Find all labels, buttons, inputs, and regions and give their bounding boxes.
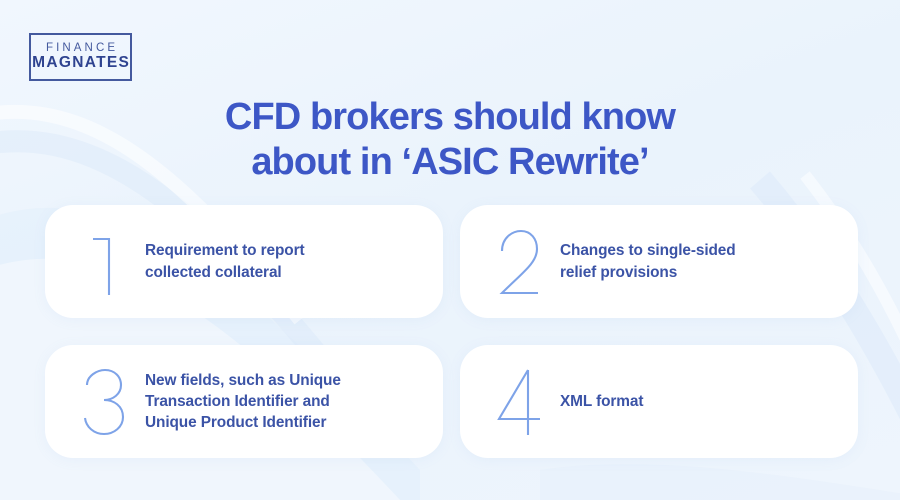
point-card-3: New fields, such as Unique Transaction I… xyxy=(45,345,443,458)
point-card-4: XML format xyxy=(460,345,858,458)
point-card-3-line-1: New fields, such as Unique xyxy=(145,370,341,391)
point-card-1-text: Requirement to report collected collater… xyxy=(145,240,305,283)
point-card-4-line-1: XML format xyxy=(560,391,643,412)
infographic-canvas: FINANCE MAGNATES CFD brokers should know… xyxy=(0,0,900,500)
point-card-3-text: New fields, such as Unique Transaction I… xyxy=(145,370,341,434)
point-card-2-text: Changes to single-sided relief provision… xyxy=(560,240,736,283)
point-card-2-line-2: relief provisions xyxy=(560,262,736,283)
numeral-2-icon xyxy=(490,226,548,298)
point-card-3-line-2: Transaction Identifier and xyxy=(145,391,341,412)
points-grid: Requirement to report collected collater… xyxy=(45,205,858,458)
logo-text-finance: FINANCE xyxy=(43,42,118,54)
numeral-3-icon xyxy=(75,366,133,438)
point-card-2: Changes to single-sided relief provision… xyxy=(460,205,858,318)
point-card-1-line-1: Requirement to report xyxy=(145,240,305,261)
logo-text-magnates: MAGNATES xyxy=(31,54,130,72)
point-card-3-line-3: Unique Product Identifier xyxy=(145,412,341,433)
numeral-1-icon xyxy=(75,226,133,298)
page-title-line-1: CFD brokers should know xyxy=(0,95,900,139)
finance-magnates-logo: FINANCE MAGNATES xyxy=(29,33,132,81)
point-card-4-text: XML format xyxy=(560,391,643,412)
page-title: CFD brokers should know about in ‘ASIC R… xyxy=(0,95,900,183)
numeral-4-icon xyxy=(490,366,548,438)
point-card-2-line-1: Changes to single-sided xyxy=(560,240,736,261)
point-card-1-line-2: collected collateral xyxy=(145,262,305,283)
point-card-1: Requirement to report collected collater… xyxy=(45,205,443,318)
page-title-line-2: about in ‘ASIC Rewrite’ xyxy=(0,140,900,184)
